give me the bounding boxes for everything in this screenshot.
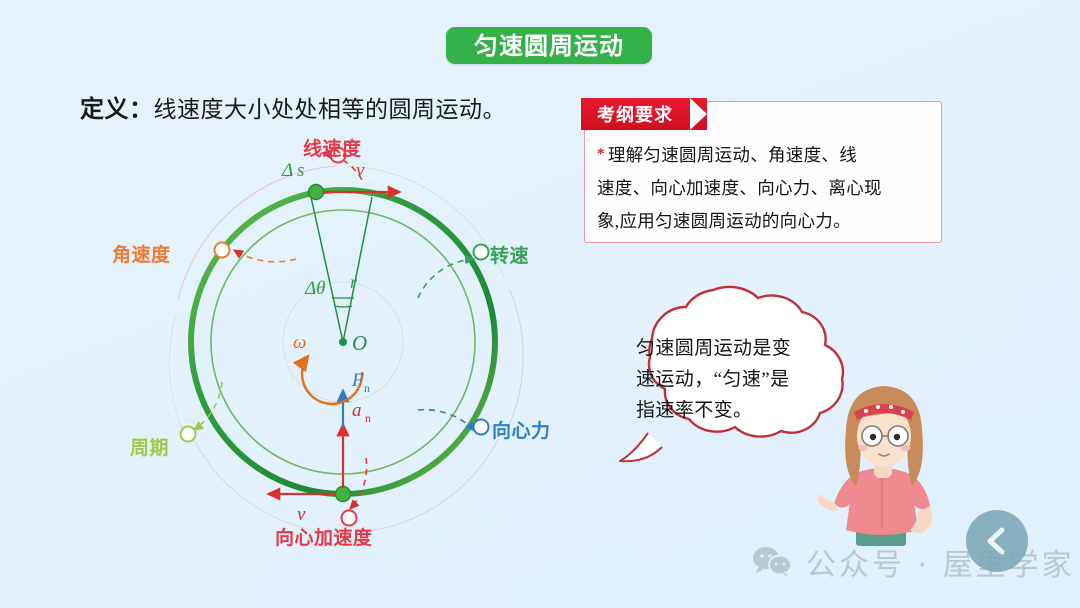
watermark-text: 公众号 · 屋里学家 <box>806 540 1075 584</box>
velocity-top-symbol: v <box>356 160 365 181</box>
speech-line-3: 指速率不变。 <box>636 395 830 426</box>
chevron-left-icon <box>983 526 1011 556</box>
label-angular-velocity: 角速度 <box>112 240 171 267</box>
asterisk-marker: * <box>597 146 605 162</box>
particle-bottom <box>336 487 351 502</box>
node-angular-velocity <box>215 243 230 258</box>
node-period <box>181 427 196 442</box>
teacher-character-illustration <box>818 378 950 560</box>
slide-title-pill: 匀速圆周运动 <box>446 27 652 64</box>
speech-bubble-text: 匀速圆周运动是变 速运动，“匀速”是 指速率不变。 <box>636 333 830 426</box>
radius-symbol: r <box>350 272 358 292</box>
circle-centre-point <box>339 338 347 346</box>
delta-theta-symbol: Δθ <box>304 278 325 299</box>
speech-line-1: 匀速圆周运动是变 <box>636 333 830 364</box>
exam-body-line-2: 速度、向心加速度、向心力、离心现 <box>597 172 931 205</box>
definition-lead: 定义： <box>80 95 154 123</box>
label-centripetal-acceleration: 向心加速度 <box>275 523 373 550</box>
back-button[interactable] <box>966 510 1028 572</box>
definition-text: 线速度大小处处相等的圆周运动。 <box>154 97 507 122</box>
acceleration-symbol: a <box>352 400 362 421</box>
delta-s-symbol: Δ s <box>281 160 304 181</box>
exam-body-line-1: *理解匀速圆周运动、角速度、线 <box>597 138 931 172</box>
character-svg <box>818 378 950 560</box>
speech-line-2: 速运动，“匀速”是 <box>636 364 830 395</box>
node-rotational-speed <box>474 245 489 260</box>
label-period: 周期 <box>130 433 169 460</box>
slide-canvas: 匀速圆周运动 定义：线速度大小处处相等的圆周运动。 考纲要求 *理解匀速圆周运动… <box>0 0 1080 608</box>
exam-body-line-3: 象,应用匀速圆周运动的向心力。 <box>597 205 931 238</box>
decorative-outer-arcs <box>169 166 523 534</box>
node-centripetal-force <box>474 420 489 435</box>
force-subscript: n <box>364 381 370 395</box>
label-linear-velocity: 线速度 <box>303 134 362 161</box>
particle-top <box>309 185 324 200</box>
exam-requirement-card: 考纲要求 *理解匀速圆周运动、角速度、线 速度、向心加速度、向心力、离心现 象,… <box>584 101 942 243</box>
angle-sector <box>311 197 372 342</box>
wechat-icon <box>752 546 792 578</box>
definition-line: 定义：线速度大小处处相等的圆周运动。 <box>80 89 506 124</box>
page-title: 匀速圆周运动 <box>474 34 624 58</box>
exam-requirement-body: *理解匀速圆周运动、角速度、线 速度、向心加速度、向心力、离心现 象,应用匀速圆… <box>597 138 931 238</box>
character-left-sleeve <box>834 474 854 508</box>
exam-body-text-1: 理解匀速圆周运动、角速度、线 <box>608 145 857 165</box>
exam-requirement-ribbon: 考纲要求 <box>581 98 707 130</box>
label-centripetal-force: 向心力 <box>492 416 551 443</box>
omega-symbol: ω <box>293 332 306 353</box>
velocity-bottom-symbol: v <box>297 504 306 525</box>
force-symbol: F <box>351 370 364 391</box>
exam-requirement-title: 考纲要求 <box>597 101 673 127</box>
diagram-svg: Δ s v Δθ r O ω v a n F n <box>100 128 590 560</box>
circular-motion-diagram: Δ s v Δθ r O ω v a n F n 线速度 角速度 转速 向心力 … <box>100 128 590 560</box>
node-markers <box>181 148 489 526</box>
centre-symbol: O <box>352 331 367 355</box>
label-rotational-speed: 转速 <box>490 241 529 268</box>
acceleration-subscript: n <box>365 411 371 425</box>
